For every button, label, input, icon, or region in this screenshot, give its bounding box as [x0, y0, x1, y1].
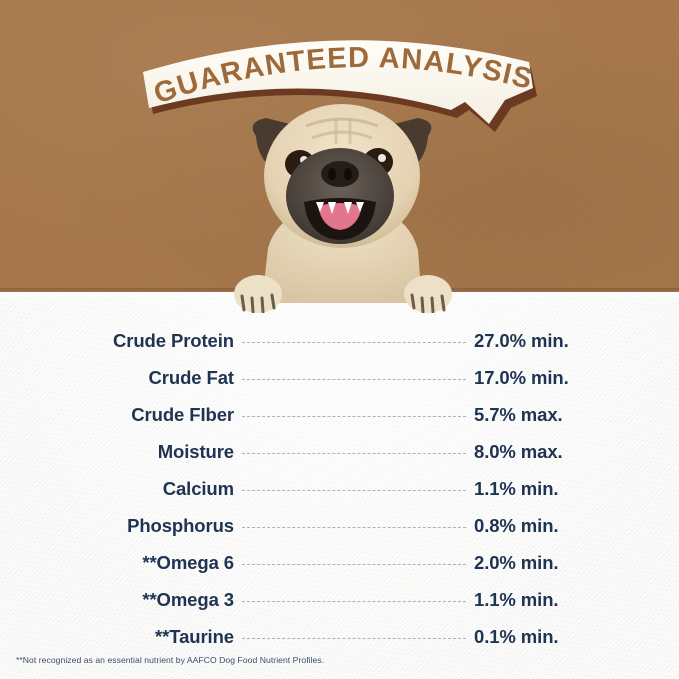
table-row: **Omega 3 1.1% min. — [0, 581, 679, 618]
nutrient-label: **Omega 3 — [0, 589, 234, 611]
leader-line — [242, 379, 466, 380]
leader-line — [242, 453, 466, 454]
analysis-table: Crude Protein 27.0% min. Crude Fat 17.0%… — [0, 322, 679, 655]
nutrient-value: 8.0% max. — [474, 441, 679, 463]
nutrient-value: 2.0% min. — [474, 552, 679, 574]
nutrient-value: 0.1% min. — [474, 626, 679, 648]
footnote: **Not recognized as an essential nutrien… — [16, 655, 324, 665]
pug-dog-photo — [232, 98, 452, 313]
table-row: Crude FIber 5.7% max. — [0, 396, 679, 433]
nutrient-value: 5.7% max. — [474, 404, 679, 426]
leader-line — [242, 416, 466, 417]
leader-line — [242, 527, 466, 528]
table-row: Moisture 8.0% max. — [0, 433, 679, 470]
table-row: Crude Protein 27.0% min. — [0, 322, 679, 359]
nutrient-value: 1.1% min. — [474, 478, 679, 500]
nutrient-value: 1.1% min. — [474, 589, 679, 611]
nutrient-label: Crude Protein — [0, 330, 234, 352]
nutrient-label: Crude Fat — [0, 367, 234, 389]
nutrient-label: Phosphorus — [0, 515, 234, 537]
leader-line — [242, 601, 466, 602]
table-row: Phosphorus 0.8% min. — [0, 507, 679, 544]
nutrient-label: Calcium — [0, 478, 234, 500]
nutrient-value: 17.0% min. — [474, 367, 679, 389]
leader-line — [242, 638, 466, 639]
nutrient-label: **Taurine — [0, 626, 234, 648]
table-row: **Taurine 0.1% min. — [0, 618, 679, 655]
table-row: **Omega 6 2.0% min. — [0, 544, 679, 581]
nutrient-value: 0.8% min. — [474, 515, 679, 537]
leader-line — [242, 490, 466, 491]
leader-line — [242, 342, 466, 343]
nutrient-label: **Omega 6 — [0, 552, 234, 574]
table-row: Crude Fat 17.0% min. — [0, 359, 679, 396]
leader-line — [242, 564, 466, 565]
table-row: Calcium 1.1% min. — [0, 470, 679, 507]
guaranteed-analysis-infographic: GUARANTEED ANALYSIS — [0, 0, 679, 679]
nutrient-value: 27.0% min. — [474, 330, 679, 352]
nutrient-label: Crude FIber — [0, 404, 234, 426]
nutrient-label: Moisture — [0, 441, 234, 463]
